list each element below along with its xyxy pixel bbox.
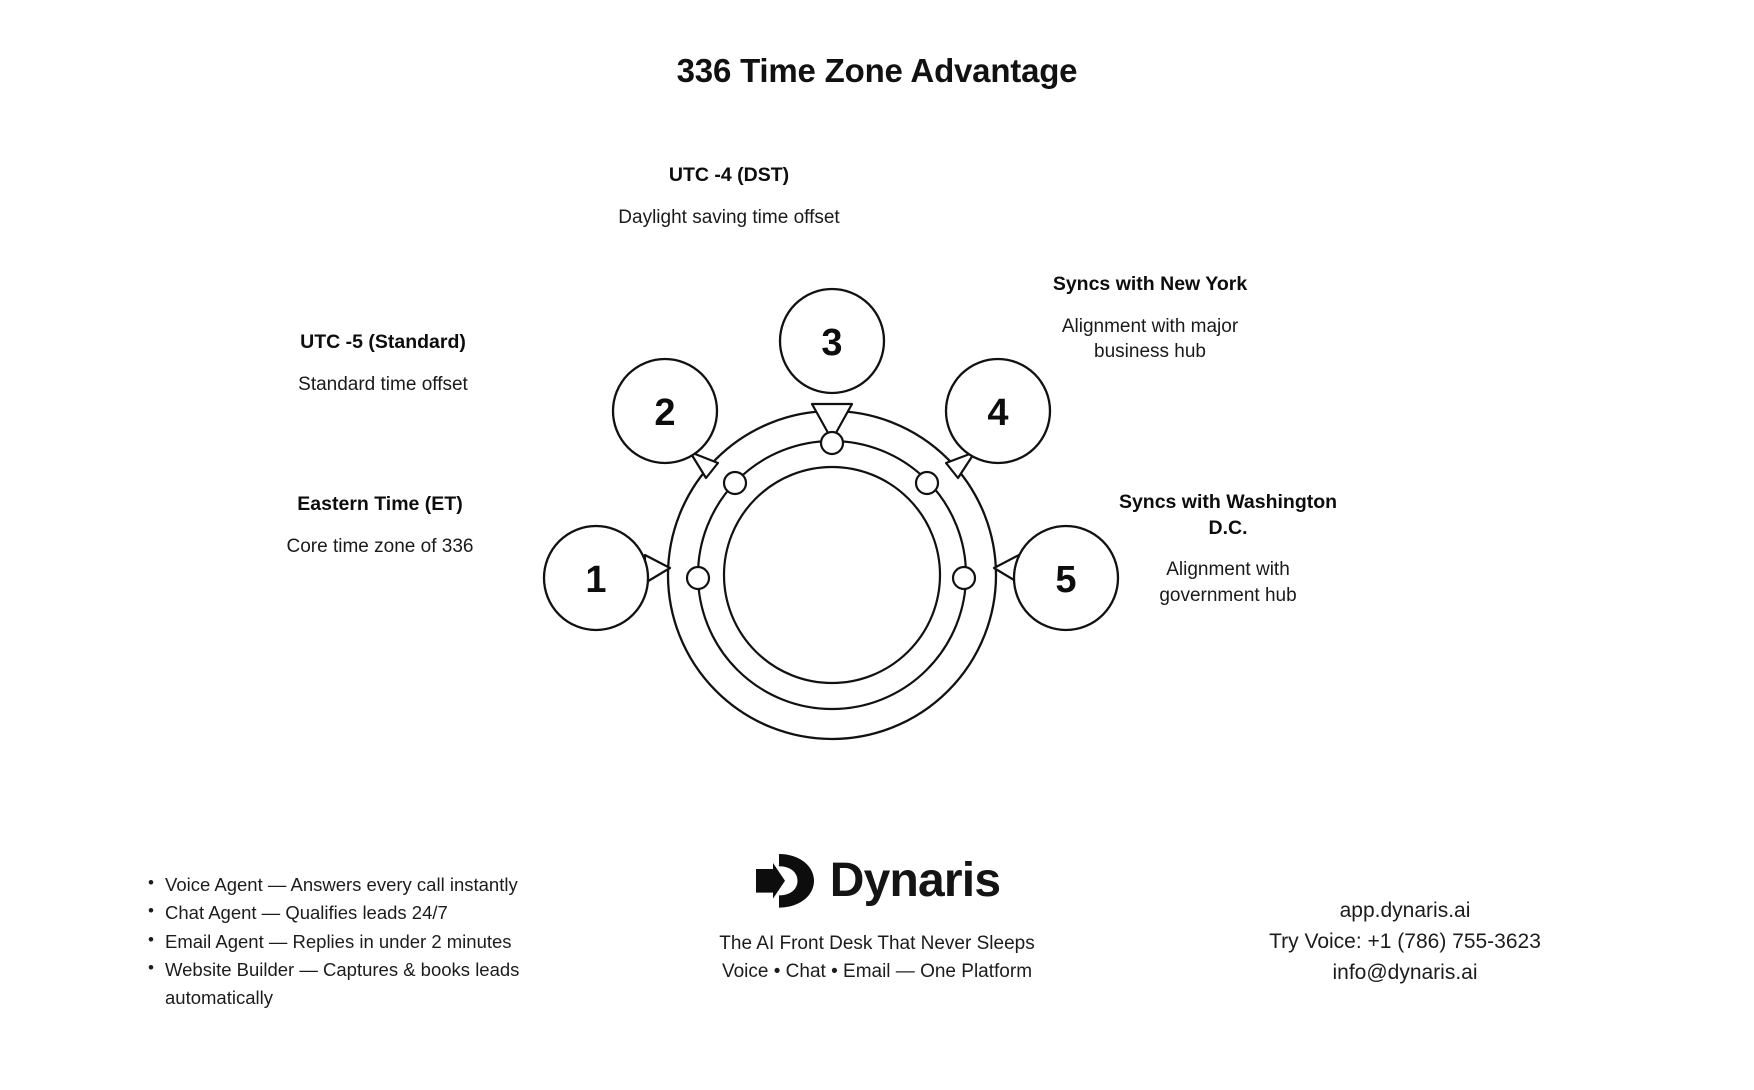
contact-block: app.dynaris.ai Try Voice: +1 (786) 755-3… <box>1100 895 1710 988</box>
callout-number-5: 5 <box>1055 559 1076 601</box>
ring-node-1 <box>687 567 709 589</box>
ring-node-5 <box>953 567 975 589</box>
dynaris-logo-icon <box>754 852 816 910</box>
callout-desc-4: Alignment with major business hub <box>1050 314 1250 364</box>
list-item: Voice Agent — Answers every call instant… <box>148 871 568 898</box>
callout-title-1: Eastern Time (ET) <box>240 492 520 518</box>
contact-phone[interactable]: Try Voice: +1 (786) 755-3623 <box>1100 926 1710 957</box>
list-item: Website Builder — Captures & books leads… <box>148 956 568 1011</box>
callout-label-2: UTC -5 (Standard) Standard time offset <box>238 330 528 397</box>
brand-block: Dynaris The AI Front Desk That Never Sle… <box>577 845 1177 985</box>
callout-label-4: Syncs with New York Alignment with major… <box>1050 272 1250 364</box>
callout-desc-1: Core time zone of 336 <box>240 534 520 559</box>
brand-wordmark: Dynaris <box>830 857 1001 905</box>
callout-number-1: 1 <box>585 559 606 601</box>
callout-desc-2: Standard time offset <box>238 372 528 397</box>
feature-list: Voice Agent — Answers every call instant… <box>148 871 568 1012</box>
callout-title-3: UTC -4 (DST) <box>604 163 854 189</box>
callout-title-4: Syncs with New York <box>1050 272 1250 298</box>
brand-tagline-primary: The AI Front Desk That Never Sleeps <box>577 930 1177 958</box>
callout-label-3: UTC -4 (DST) Daylight saving time offset <box>604 163 854 230</box>
ring-node-2 <box>724 472 746 494</box>
brand-tagline-secondary: Voice • Chat • Email — One Platform <box>577 958 1177 986</box>
callout-label-5: Syncs with Washington D.C. Alignment wit… <box>1118 490 1338 608</box>
callout-number-2: 2 <box>654 392 675 434</box>
inner-ring <box>724 467 940 683</box>
callout-number-4: 4 <box>987 392 1008 434</box>
contact-website[interactable]: app.dynaris.ai <box>1100 895 1710 926</box>
callout-title-2: UTC -5 (Standard) <box>238 330 528 356</box>
wheel-rings <box>668 411 996 739</box>
diagram-stage: 1 2 3 4 5 Eastern Time (ET) Core time zo… <box>0 0 1754 780</box>
list-item: Chat Agent — Qualifies leads 24/7 <box>148 899 568 926</box>
callout-desc-5: Alignment with government hub <box>1118 557 1338 607</box>
callout-desc-3: Daylight saving time offset <box>604 205 854 230</box>
brand-lockup: Dynaris <box>577 845 1177 917</box>
contact-email[interactable]: info@dynaris.ai <box>1100 957 1710 988</box>
callout-label-1: Eastern Time (ET) Core time zone of 336 <box>240 492 520 559</box>
list-item: Email Agent — Replies in under 2 minutes <box>148 928 568 955</box>
callout-number-3: 3 <box>821 322 842 364</box>
ring-node-4 <box>916 472 938 494</box>
footer: Voice Agent — Answers every call instant… <box>0 845 1754 1090</box>
ring-node-3 <box>821 432 843 454</box>
callout-title-5: Syncs with Washington D.C. <box>1118 490 1338 541</box>
